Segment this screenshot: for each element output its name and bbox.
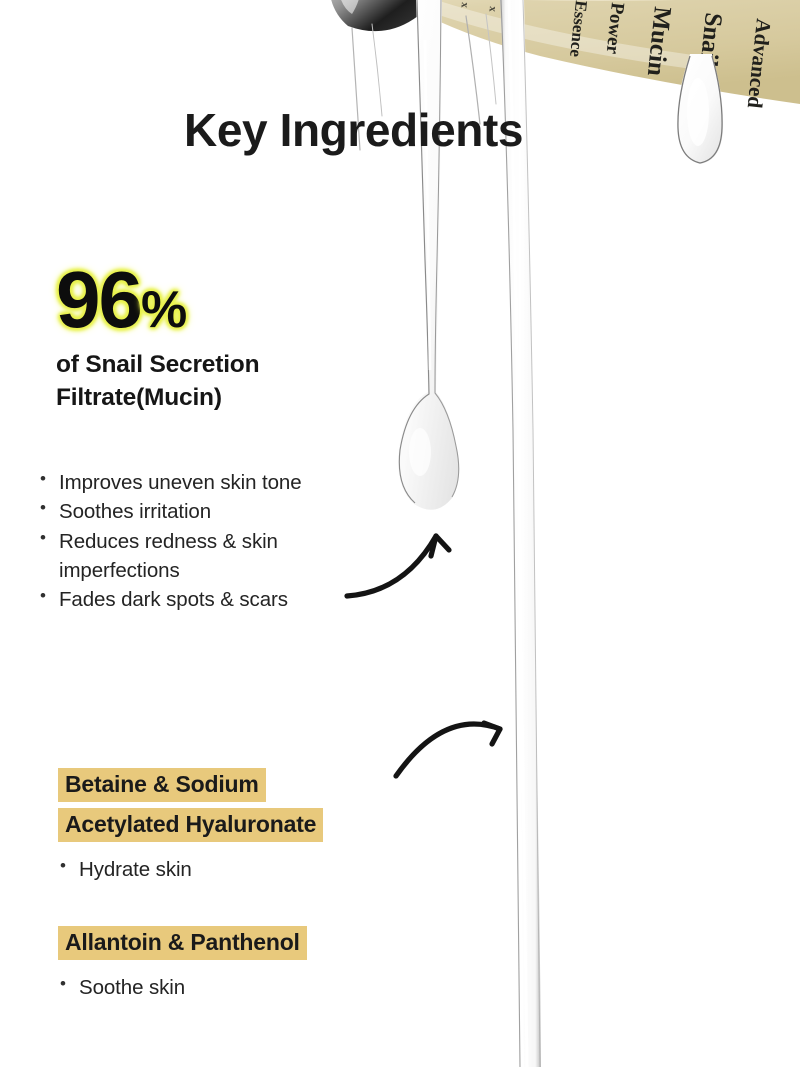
list-item: Hydrate skin xyxy=(58,855,478,884)
ingredient-benefits-list: Hydrate skin xyxy=(58,855,478,884)
ingredient-heading-line: Betaine & Sodium xyxy=(58,768,266,802)
hanging-droplet xyxy=(677,54,723,164)
svg-text:Essence: Essence xyxy=(566,0,591,58)
svg-text:Snail: Snail xyxy=(694,11,727,68)
list-item: Soothes irritation xyxy=(38,497,388,526)
ingredient-heading-line: Allantoin & Panthenol xyxy=(58,926,307,960)
hero-stat-caption: of Snail Secretion Filtrate(Mucin) xyxy=(56,349,396,415)
hero-stat-number: 96% xyxy=(56,262,396,339)
page-title: Key Ingredients xyxy=(184,103,523,157)
hero-stat-caption-line-1: of Snail Secretion xyxy=(56,351,259,378)
list-item: Soothe skin xyxy=(58,973,478,1002)
hero-stat-caption-line-2: Filtrate(Mucin) xyxy=(56,384,222,411)
svg-text:x: x xyxy=(458,2,471,9)
hero-stat-unit: % xyxy=(141,281,186,339)
ingredient-heading-line: Acetylated Hyaluronate xyxy=(58,808,323,842)
list-item: Improves uneven skin tone xyxy=(38,468,388,497)
svg-text:x: x xyxy=(486,6,499,13)
mucin-benefits-list: Improves uneven skin tone Soothes irrita… xyxy=(38,468,388,615)
liquid-drip-teardrop xyxy=(398,0,459,510)
list-item: Reduces redness & skin imperfections xyxy=(38,527,388,586)
ingredient-benefits-list: Soothe skin xyxy=(58,973,478,1002)
bottle-label-text: Advanced Snail Mucin Power Essence x x xyxy=(458,0,776,110)
ingredient-group-betaine: Betaine & Sodium Acetylated Hyaluronate … xyxy=(58,768,478,885)
ingredients-infographic: Advanced Snail Mucin Power Essence x x xyxy=(0,0,800,1067)
svg-text:Advanced: Advanced xyxy=(743,17,776,109)
list-item: Fades dark spots & scars xyxy=(38,585,388,614)
svg-text:Mucin: Mucin xyxy=(642,5,676,77)
liquid-stream-main xyxy=(500,0,541,1067)
ingredient-group-allantoin: Allantoin & Panthenol Soothe skin xyxy=(58,926,478,1002)
hero-stat-value: 96 xyxy=(56,255,141,344)
hero-stat-block: 96% of Snail Secretion Filtrate(Mucin) xyxy=(56,262,396,414)
product-bottle xyxy=(329,0,800,104)
svg-text:Power: Power xyxy=(602,1,628,55)
